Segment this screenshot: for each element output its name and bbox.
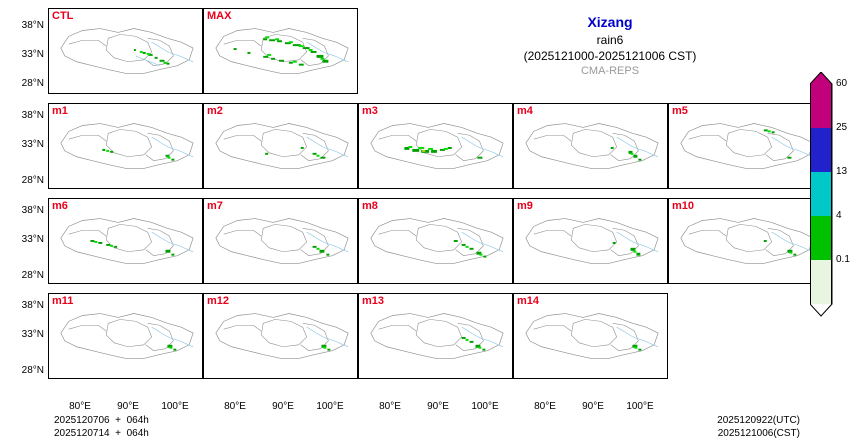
panel-m11[interactable]: m11: [48, 293, 203, 379]
panel-m2[interactable]: m2: [203, 103, 358, 189]
y-tick-38n-r0: 38°N: [2, 20, 44, 31]
map-outline: [204, 104, 357, 188]
x-tick-90e-c0: 90°E: [105, 401, 151, 412]
page-title: Xizang: [430, 14, 790, 30]
panel-m12[interactable]: m12: [203, 293, 358, 379]
x-tick-100e-c2: 100°E: [462, 401, 508, 412]
colorbar-tick-01: 0.1: [836, 254, 850, 265]
colorbar-tick-13: 13: [836, 166, 847, 177]
panel-label: m13: [362, 295, 384, 307]
colorbar-tick-25: 25: [836, 122, 847, 133]
panel-m8[interactable]: m8: [358, 198, 513, 284]
panel-label: m7: [207, 200, 223, 212]
panel-m4[interactable]: m4: [513, 103, 668, 189]
panel-label: m10: [672, 200, 694, 212]
x-tick-100e-c1: 100°E: [307, 401, 353, 412]
panel-ctl[interactable]: CTL: [48, 8, 203, 94]
map-outline: [49, 199, 202, 283]
colorbar-tick-60: 60: [836, 78, 847, 89]
x-tick-100e-c3: 100°E: [617, 401, 663, 412]
y-tick-28n-r1: 28°N: [2, 175, 44, 186]
figure-root: Xizang rain6 (2025121000-2025121006 CST)…: [0, 0, 860, 448]
x-tick-80e-c3: 80°E: [522, 401, 568, 412]
colorbar-tick-4: 4: [836, 210, 842, 221]
variable-label: rain6: [430, 33, 790, 47]
colorbar-outline: [810, 72, 834, 322]
panel-label: m6: [52, 200, 68, 212]
panel-m7[interactable]: m7: [203, 198, 358, 284]
y-tick-38n-r3: 38°N: [2, 300, 44, 311]
x-tick-90e-c2: 90°E: [415, 401, 461, 412]
y-tick-38n-r2: 38°N: [2, 205, 44, 216]
x-tick-80e-c0: 80°E: [57, 401, 103, 412]
colorbar: 60 25 13 4 0.1: [810, 72, 854, 322]
panel-label: MAX: [207, 10, 231, 22]
source-label: CMA-REPS: [430, 65, 790, 77]
y-tick-28n-r0: 28°N: [2, 78, 44, 89]
panel-label: m11: [52, 295, 73, 307]
y-tick-38n-r1: 38°N: [2, 110, 44, 121]
map-outline: [49, 104, 202, 188]
panel-label: m9: [517, 200, 533, 212]
panel-label: m14: [517, 295, 539, 307]
x-tick-90e-c3: 90°E: [570, 401, 616, 412]
panel-m14[interactable]: m14: [513, 293, 668, 379]
panel-label: m5: [672, 105, 688, 117]
footer-left-line1: 2025120706 + 064h: [54, 415, 149, 426]
y-tick-28n-r2: 28°N: [2, 270, 44, 281]
title-block: Xizang rain6 (2025121000-2025121006 CST)…: [430, 14, 790, 77]
x-tick-100e-c0: 100°E: [152, 401, 198, 412]
map-outline: [514, 199, 667, 283]
panel-label: m1: [52, 105, 68, 117]
panel-m13[interactable]: m13: [358, 293, 513, 379]
x-tick-80e-c2: 80°E: [367, 401, 413, 412]
panel-label: m2: [207, 105, 223, 117]
y-tick-33n-r3: 33°N: [2, 329, 44, 340]
panel-m10[interactable]: m10: [668, 198, 823, 284]
panel-m5[interactable]: m5: [668, 103, 823, 189]
map-outline: [669, 104, 822, 188]
footer-right-line2: 2025121006(CST): [600, 428, 800, 439]
y-tick-33n-r2: 33°N: [2, 234, 44, 245]
y-tick-33n-r0: 33°N: [2, 49, 44, 60]
panel-m1[interactable]: m1: [48, 103, 203, 189]
x-tick-80e-c1: 80°E: [212, 401, 258, 412]
panel-label: m8: [362, 200, 378, 212]
panel-m9[interactable]: m9: [513, 198, 668, 284]
panel-m3[interactable]: m3: [358, 103, 513, 189]
footer-left-line2: 2025120714 + 064h: [54, 428, 149, 439]
panel-label: m12: [207, 295, 229, 307]
panel-label: m4: [517, 105, 533, 117]
map-outline: [359, 104, 512, 188]
map-outline: [359, 199, 512, 283]
map-outline: [514, 104, 667, 188]
panel-label: CTL: [52, 10, 73, 22]
footer-right-line1: 2025120922(UTC): [600, 415, 800, 426]
period-label: (2025121000-2025121006 CST): [430, 49, 790, 63]
panel-label: m3: [362, 105, 378, 117]
y-tick-28n-r3: 28°N: [2, 365, 44, 376]
x-tick-90e-c1: 90°E: [260, 401, 306, 412]
panel-m6[interactable]: m6: [48, 198, 203, 284]
panel-max[interactable]: MAX: [203, 8, 358, 94]
y-tick-33n-r1: 33°N: [2, 139, 44, 150]
map-outline: [204, 199, 357, 283]
